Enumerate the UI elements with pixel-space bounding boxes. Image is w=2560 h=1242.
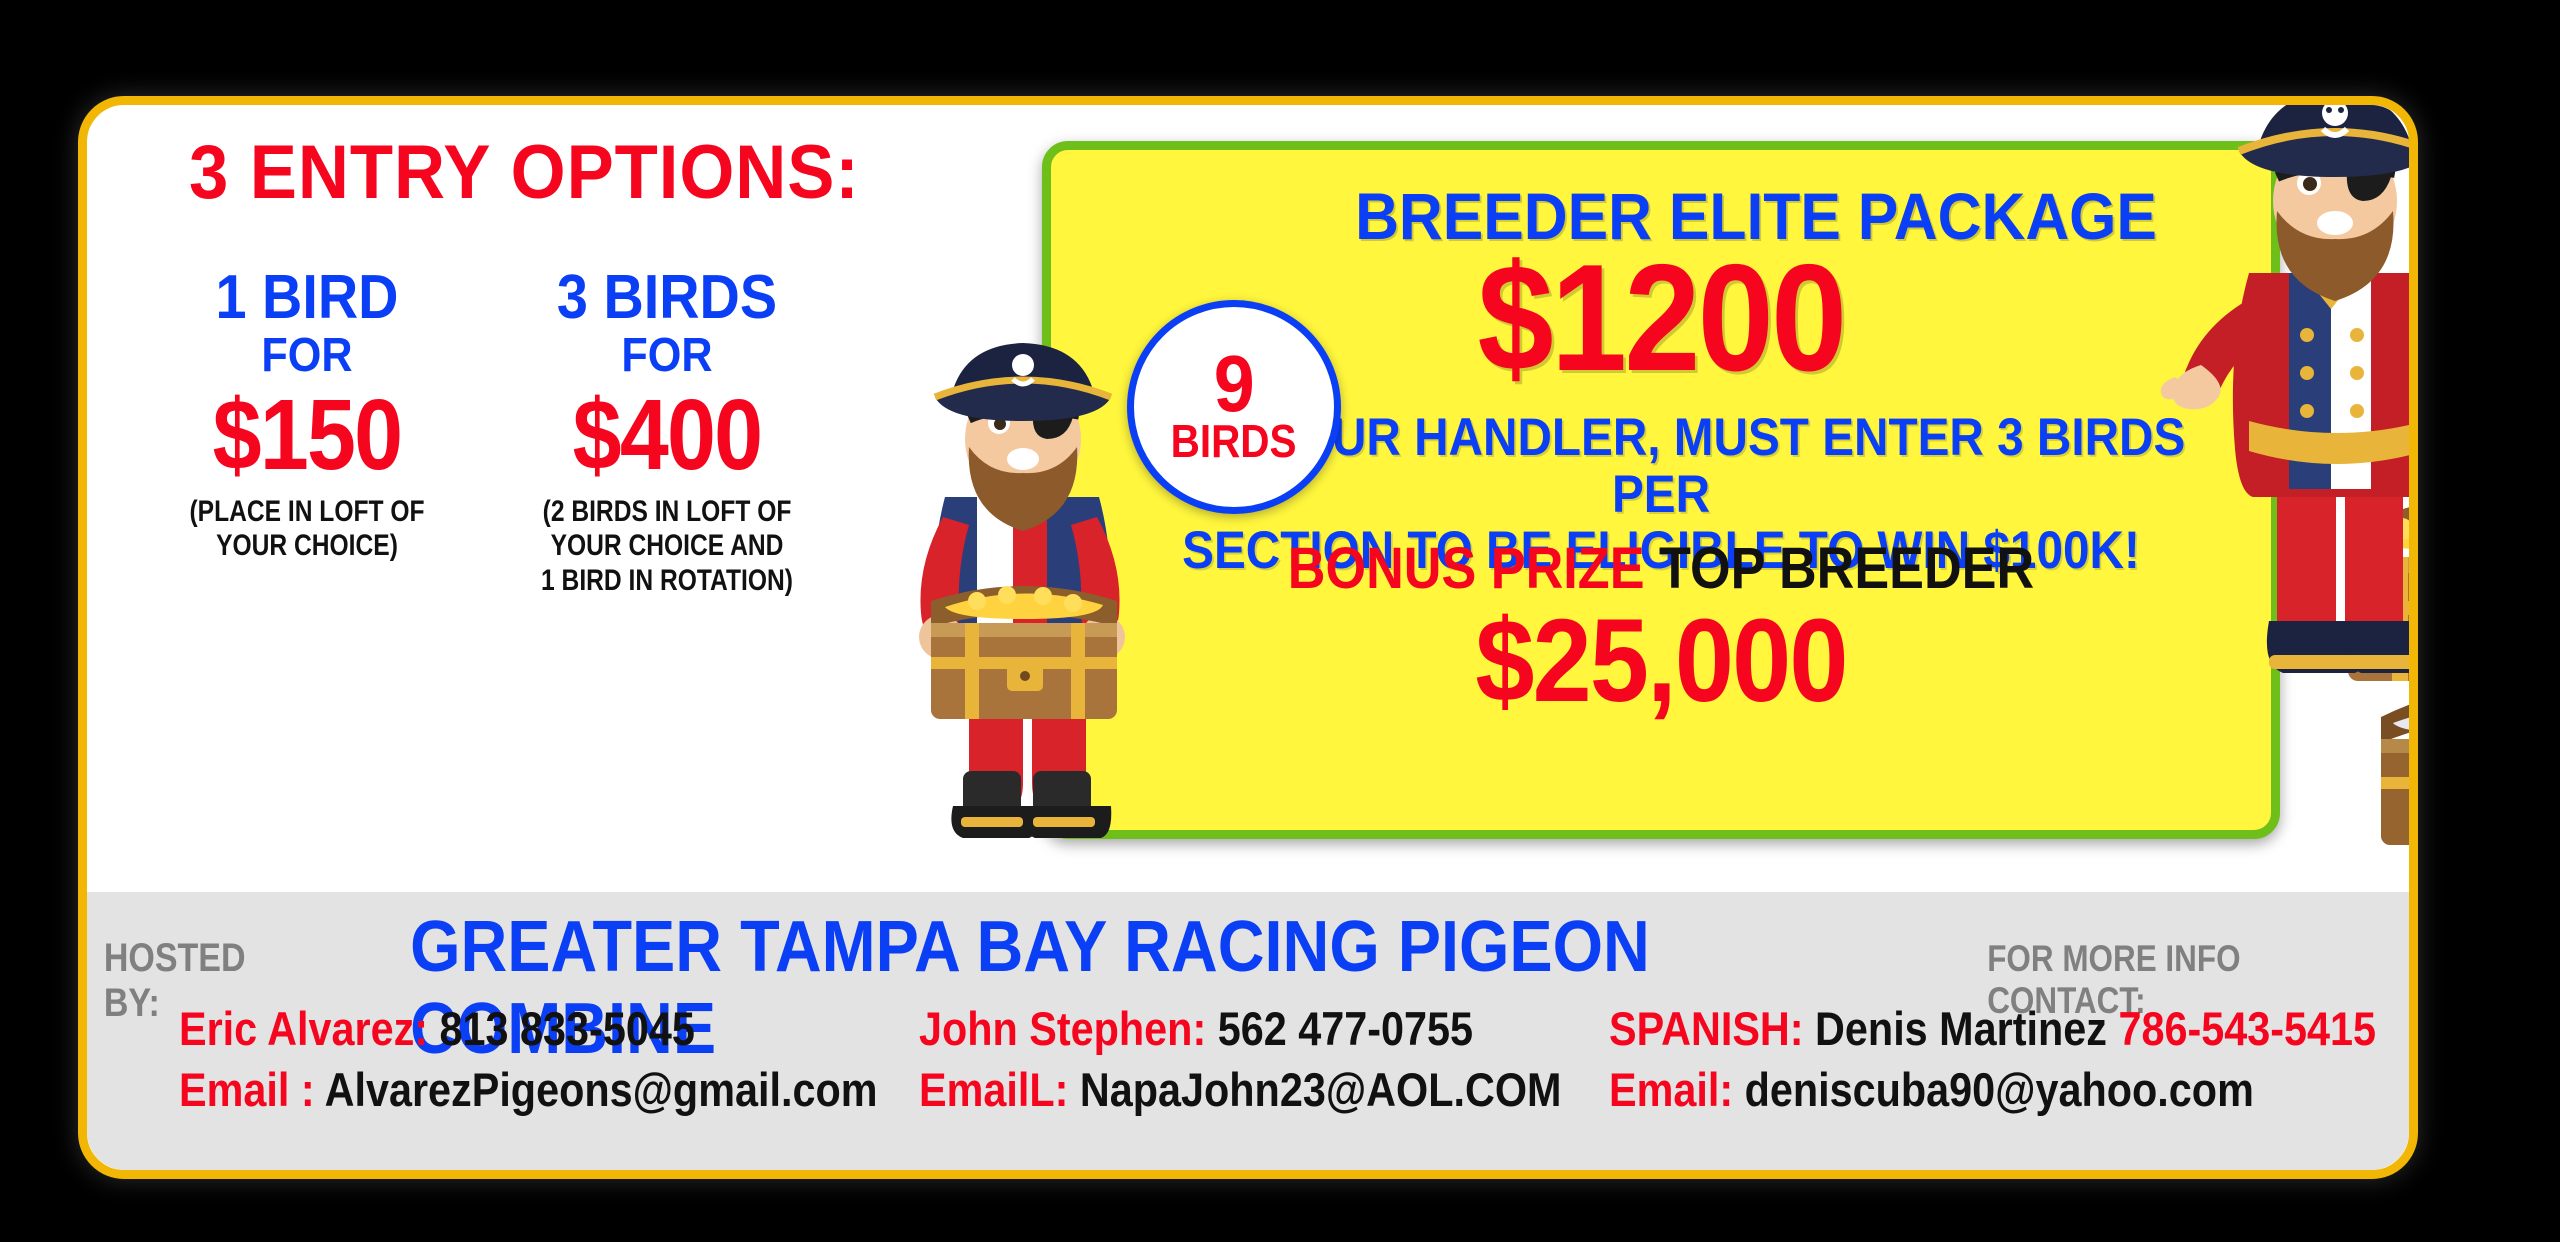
entry-option-2-note-line-1: (2 BIRDS IN LOFT OF bbox=[519, 495, 814, 530]
page-title: 3 ENTRY OPTIONS: bbox=[189, 129, 894, 216]
contact-2-name: John Stephen: bbox=[919, 1002, 1206, 1055]
top-breeder-label: TOP BREEDER bbox=[1659, 536, 2034, 601]
contact-1-email-label: Email : bbox=[179, 1063, 315, 1116]
contact-1-phone-row: Eric Alvarez: 813 833-5045 bbox=[179, 998, 830, 1059]
badge-number: 9 bbox=[1214, 350, 1255, 418]
contact-3-language-label: SPANISH: bbox=[1609, 1002, 1804, 1055]
entry-options-list: 1 BIRD FOR $150 (PLACE IN LOFT OF YOUR C… bbox=[127, 268, 947, 599]
contact-3-email-label: Email: bbox=[1609, 1063, 1733, 1116]
contact-3-phone[interactable]: 786-543-5415 bbox=[2118, 1002, 2376, 1055]
contact-2-email[interactable]: NapaJohn23@AOL.COM bbox=[1080, 1063, 1562, 1116]
contact-3-phone-row: SPANISH: Denis Martinez 786-543-5415 bbox=[1609, 998, 2339, 1059]
flyer-card: 3 ENTRY OPTIONS: 1 BIRD FOR $150 (PLACE … bbox=[78, 96, 2418, 1179]
nine-birds-badge: 9 BIRDS bbox=[1127, 300, 1341, 514]
entry-option-2-note-line-2: YOUR CHOICE AND bbox=[519, 529, 814, 564]
entry-option-2-price: $400 bbox=[509, 385, 826, 485]
bonus-prize-line: BONUS PRIZE TOP BREEDER bbox=[1112, 540, 2210, 598]
contacts-list: Eric Alvarez: 813 833-5045 Email : Alvar… bbox=[113, 998, 2373, 1120]
entry-option-1-note-line-1: (PLACE IN LOFT OF bbox=[159, 495, 454, 530]
entry-option-1-for-label: FOR bbox=[145, 329, 469, 383]
contact-1-email[interactable]: AlvarezPigeons@gmail.com bbox=[325, 1063, 878, 1116]
contact-2: John Stephen: 562 477-0755 EmailL: NapaJ… bbox=[919, 998, 1609, 1120]
contact-1: Eric Alvarez: 813 833-5045 Email : Alvar… bbox=[113, 998, 919, 1120]
footer-bar: HOSTED BY: GREATER TAMPA BAY RACING PIGE… bbox=[87, 892, 2409, 1170]
bonus-prize-label: BONUS PRIZE bbox=[1288, 536, 1645, 601]
contact-1-email-row: Email : AlvarezPigeons@gmail.com bbox=[179, 1059, 830, 1120]
contact-3-name: Denis Martinez bbox=[1815, 1002, 2107, 1055]
entry-option-1-note-line-2: YOUR CHOICE) bbox=[159, 529, 454, 564]
entry-option-1-heading: 1 BIRD bbox=[145, 268, 469, 329]
contact-2-phone[interactable]: 562 477-0755 bbox=[1218, 1002, 1473, 1055]
entry-option-2-for-label: FOR bbox=[505, 329, 829, 383]
contact-1-phone[interactable]: 813 833-5045 bbox=[440, 1002, 695, 1055]
entry-option-1: 1 BIRD FOR $150 (PLACE IN LOFT OF YOUR C… bbox=[127, 268, 487, 599]
entry-options-section: 3 ENTRY OPTIONS: 1 BIRD FOR $150 (PLACE … bbox=[127, 129, 947, 599]
flyer-canvas: 3 ENTRY OPTIONS: 1 BIRD FOR $150 (PLACE … bbox=[0, 0, 2560, 1242]
entry-option-2-heading: 3 BIRDS bbox=[505, 268, 829, 329]
flyer-card-inner: 3 ENTRY OPTIONS: 1 BIRD FOR $150 (PLACE … bbox=[87, 105, 2409, 1170]
contact-2-email-label: EmailL: bbox=[919, 1063, 1068, 1116]
entry-option-1-price: $150 bbox=[149, 385, 466, 485]
bonus-prize-amount: $25,000 bbox=[1112, 602, 2210, 720]
contact-3-email[interactable]: deniscuba90@yahoo.com bbox=[1745, 1063, 2254, 1116]
pirate-pointing-illustration bbox=[2157, 105, 2409, 735]
badge-label: BIRDS bbox=[1171, 418, 1297, 464]
contact-1-name: Eric Alvarez: bbox=[179, 1002, 428, 1055]
contact-2-email-row: EmailL: NapaJohn23@AOL.COM bbox=[919, 1059, 1526, 1120]
entry-option-2-note-line-3: 1 BIRD IN ROTATION) bbox=[519, 564, 814, 599]
entry-option-1-note: (PLACE IN LOFT OF YOUR CHOICE) bbox=[159, 495, 454, 565]
contact-3: SPANISH: Denis Martinez 786-543-5415 Ema… bbox=[1609, 998, 2409, 1120]
entry-option-2: 3 BIRDS FOR $400 (2 BIRDS IN LOFT OF YOU… bbox=[487, 268, 847, 599]
contact-2-phone-row: John Stephen: 562 477-0755 bbox=[919, 998, 1526, 1059]
entry-option-2-note: (2 BIRDS IN LOFT OF YOUR CHOICE AND 1 BI… bbox=[519, 495, 814, 599]
contact-3-email-row: Email: deniscuba90@yahoo.com bbox=[1609, 1059, 2339, 1120]
